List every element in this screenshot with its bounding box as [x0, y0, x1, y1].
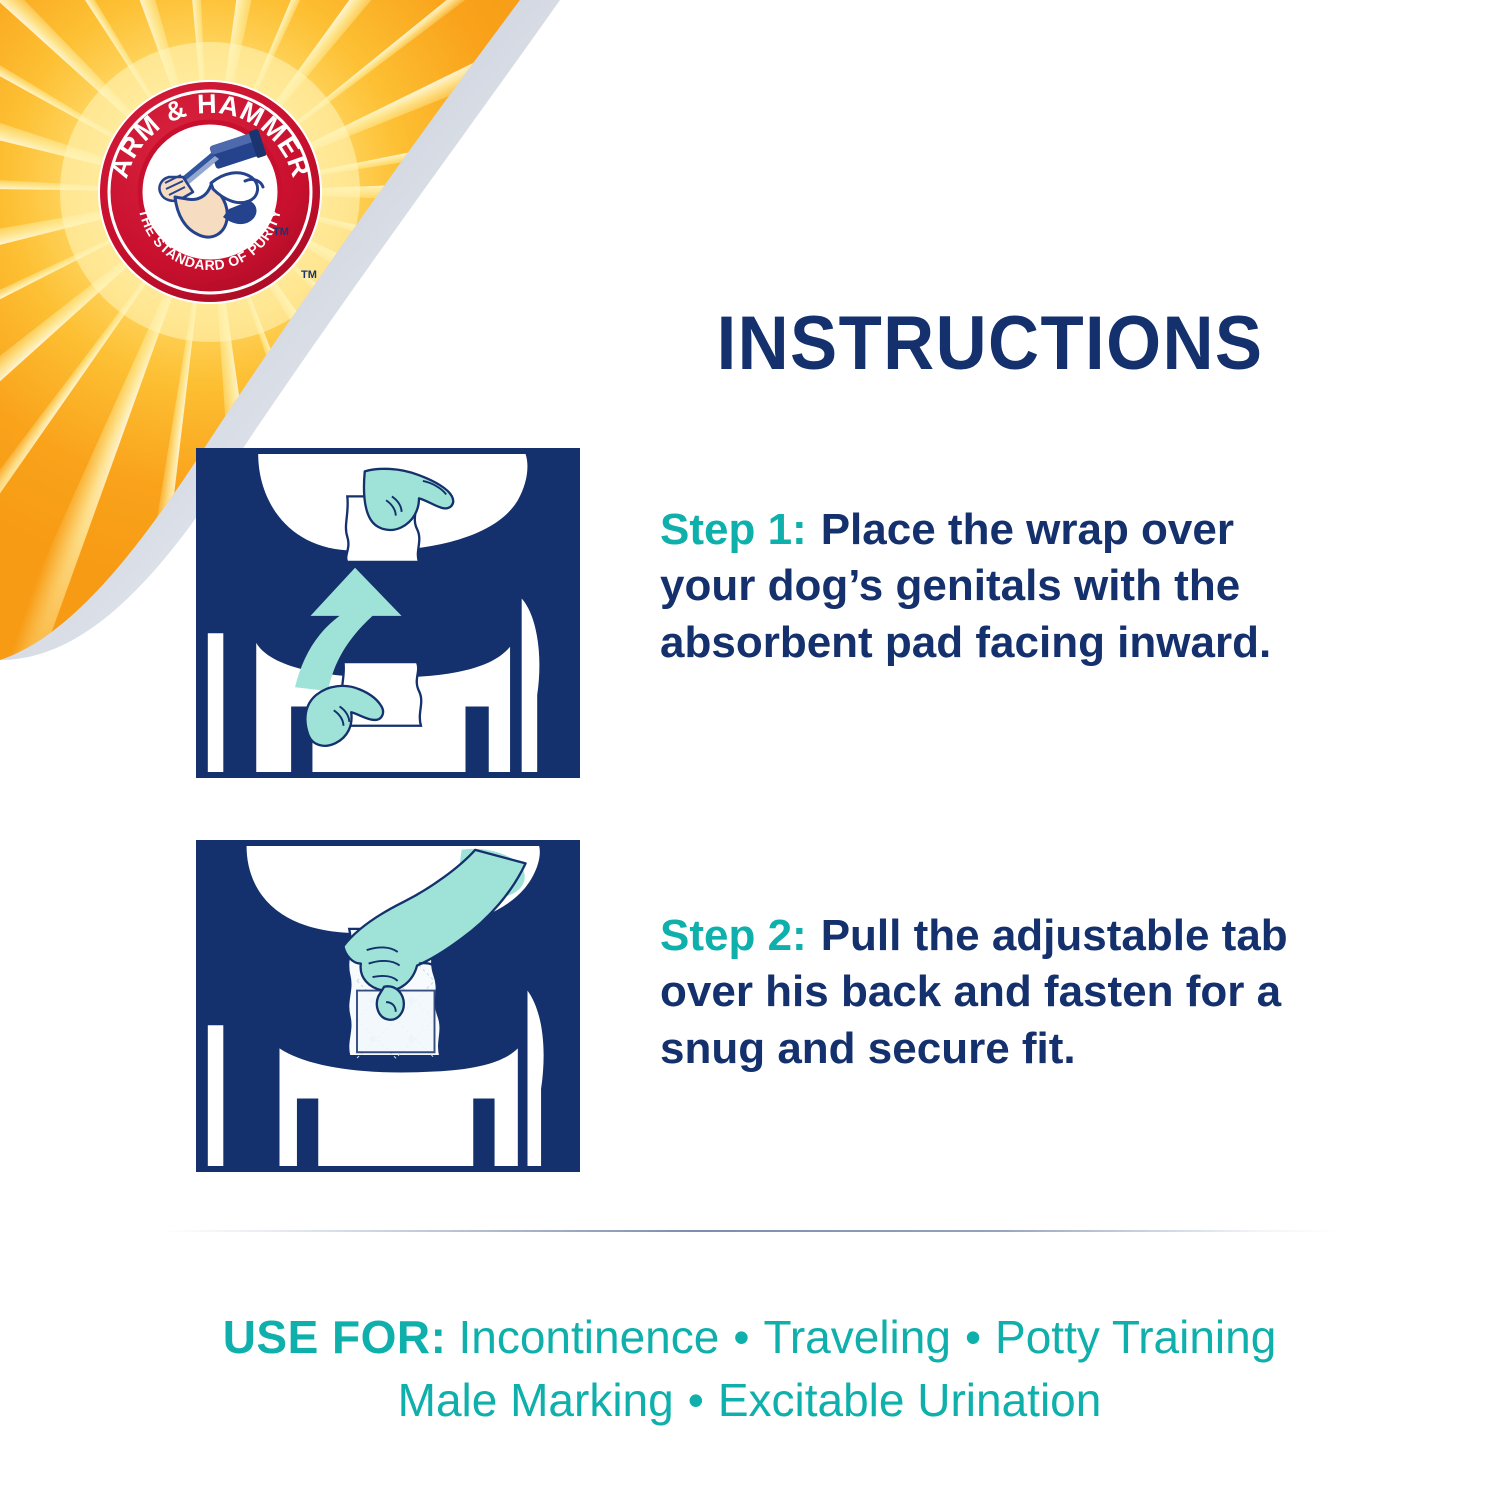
page-title: INSTRUCTIONS: [665, 306, 1316, 382]
step-2-text: Step 2:Pull the adjustable tab over his …: [660, 908, 1320, 1077]
use-for-item-potty-training: Potty Training: [995, 1311, 1276, 1363]
use-for-item-male-marking: Male Marking: [398, 1374, 674, 1426]
step-2-illustration: [196, 840, 580, 1172]
logo-tm-outer: TM: [301, 269, 317, 281]
section-divider: [160, 1230, 1345, 1232]
instructions-page: ARM & HAMMER THE STANDARD OF PURITY: [0, 0, 1499, 1500]
logo-tm-inner: TM: [273, 226, 289, 238]
use-for-item-excitable-urination: Excitable Urination: [718, 1374, 1102, 1426]
use-for-separator: •: [951, 1311, 995, 1363]
step-1-illustration: [196, 448, 580, 778]
step-1-label: Step 1:: [660, 505, 821, 554]
use-for-section: USE FOR:Incontinence•Traveling•Potty Tra…: [0, 1306, 1499, 1433]
use-for-separator: •: [674, 1374, 718, 1426]
use-for-item-incontinence: Incontinence: [458, 1311, 719, 1363]
use-for-label: USE FOR:: [223, 1311, 459, 1363]
arm-and-hammer-logo: ARM & HAMMER THE STANDARD OF PURITY: [95, 77, 325, 307]
use-for-line-2: Male Marking•Excitable Urination: [0, 1369, 1499, 1432]
step-2-label: Step 2:: [660, 911, 821, 960]
use-for-separator: •: [719, 1311, 763, 1363]
use-for-line-1: USE FOR:Incontinence•Traveling•Potty Tra…: [0, 1306, 1499, 1369]
use-for-item-traveling: Traveling: [763, 1311, 950, 1363]
step-1-text: Step 1:Place the wrap over your dog’s ge…: [660, 502, 1320, 671]
